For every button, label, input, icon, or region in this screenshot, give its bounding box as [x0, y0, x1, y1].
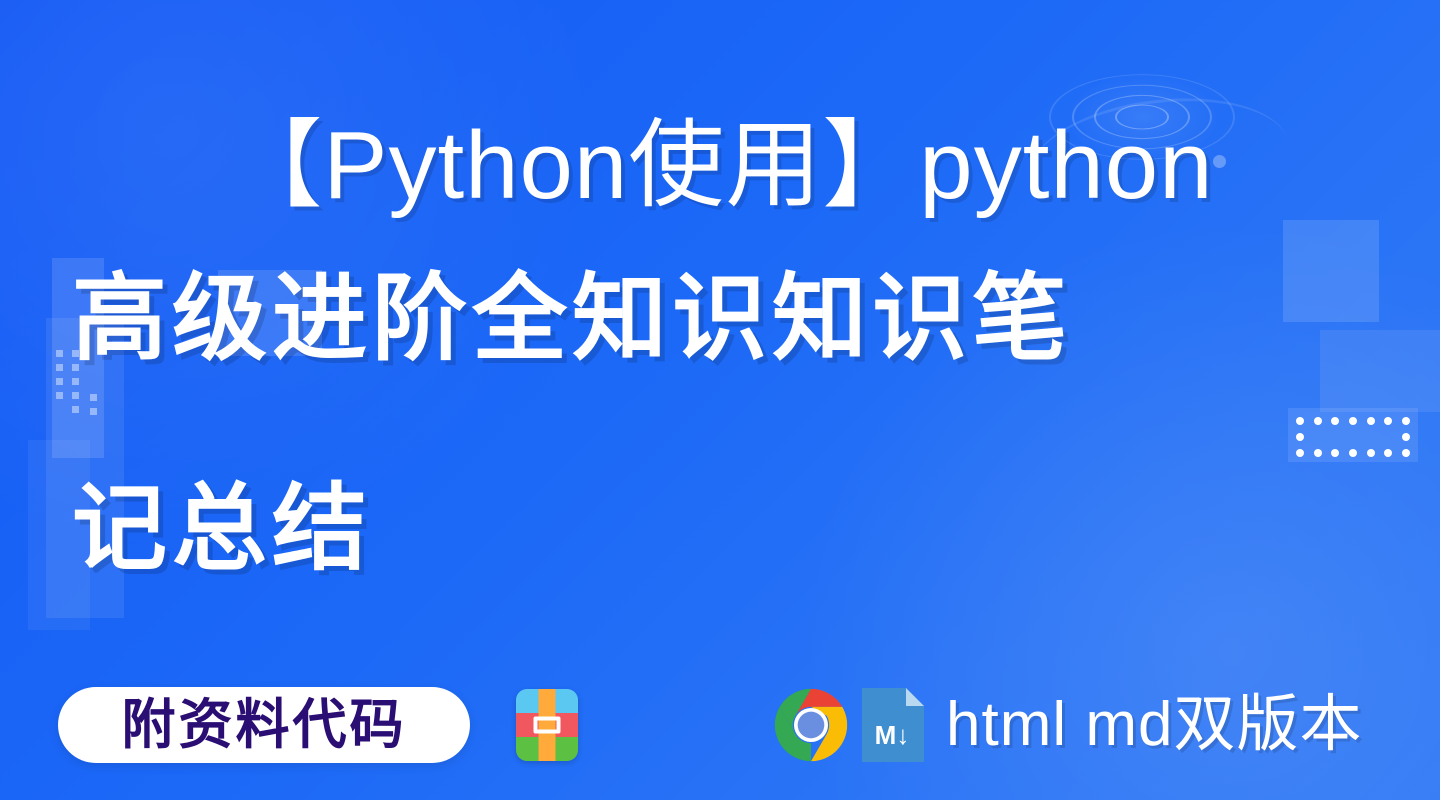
dual-version-group: M↓ html md双版本	[774, 688, 1362, 762]
resource-code-badge[interactable]: 附资料代码	[58, 687, 470, 763]
archive-icon	[516, 689, 578, 761]
markdown-icon-glyph: M↓	[875, 720, 910, 750]
footer-row: 附资料代码	[58, 684, 1440, 766]
page-title-line-1: 【Python使用】python	[0, 118, 1440, 214]
chrome-icon	[774, 688, 848, 762]
archive-icon-center-hole	[534, 717, 561, 734]
page-title-line-3: 记总结	[72, 482, 372, 577]
dual-version-label: html md双版本	[946, 694, 1362, 756]
page-title-line-2: 高级进阶全知识知识笔	[72, 272, 1072, 367]
cover-content: 【Python使用】python 高级进阶全知识知识笔 记总结 附资料代码	[0, 0, 1440, 800]
resource-code-badge-label: 附资料代码	[122, 698, 407, 752]
markdown-file-icon: M↓	[862, 688, 924, 762]
course-cover-banner: 【Python使用】python 高级进阶全知识知识笔 记总结 附资料代码	[0, 0, 1440, 800]
